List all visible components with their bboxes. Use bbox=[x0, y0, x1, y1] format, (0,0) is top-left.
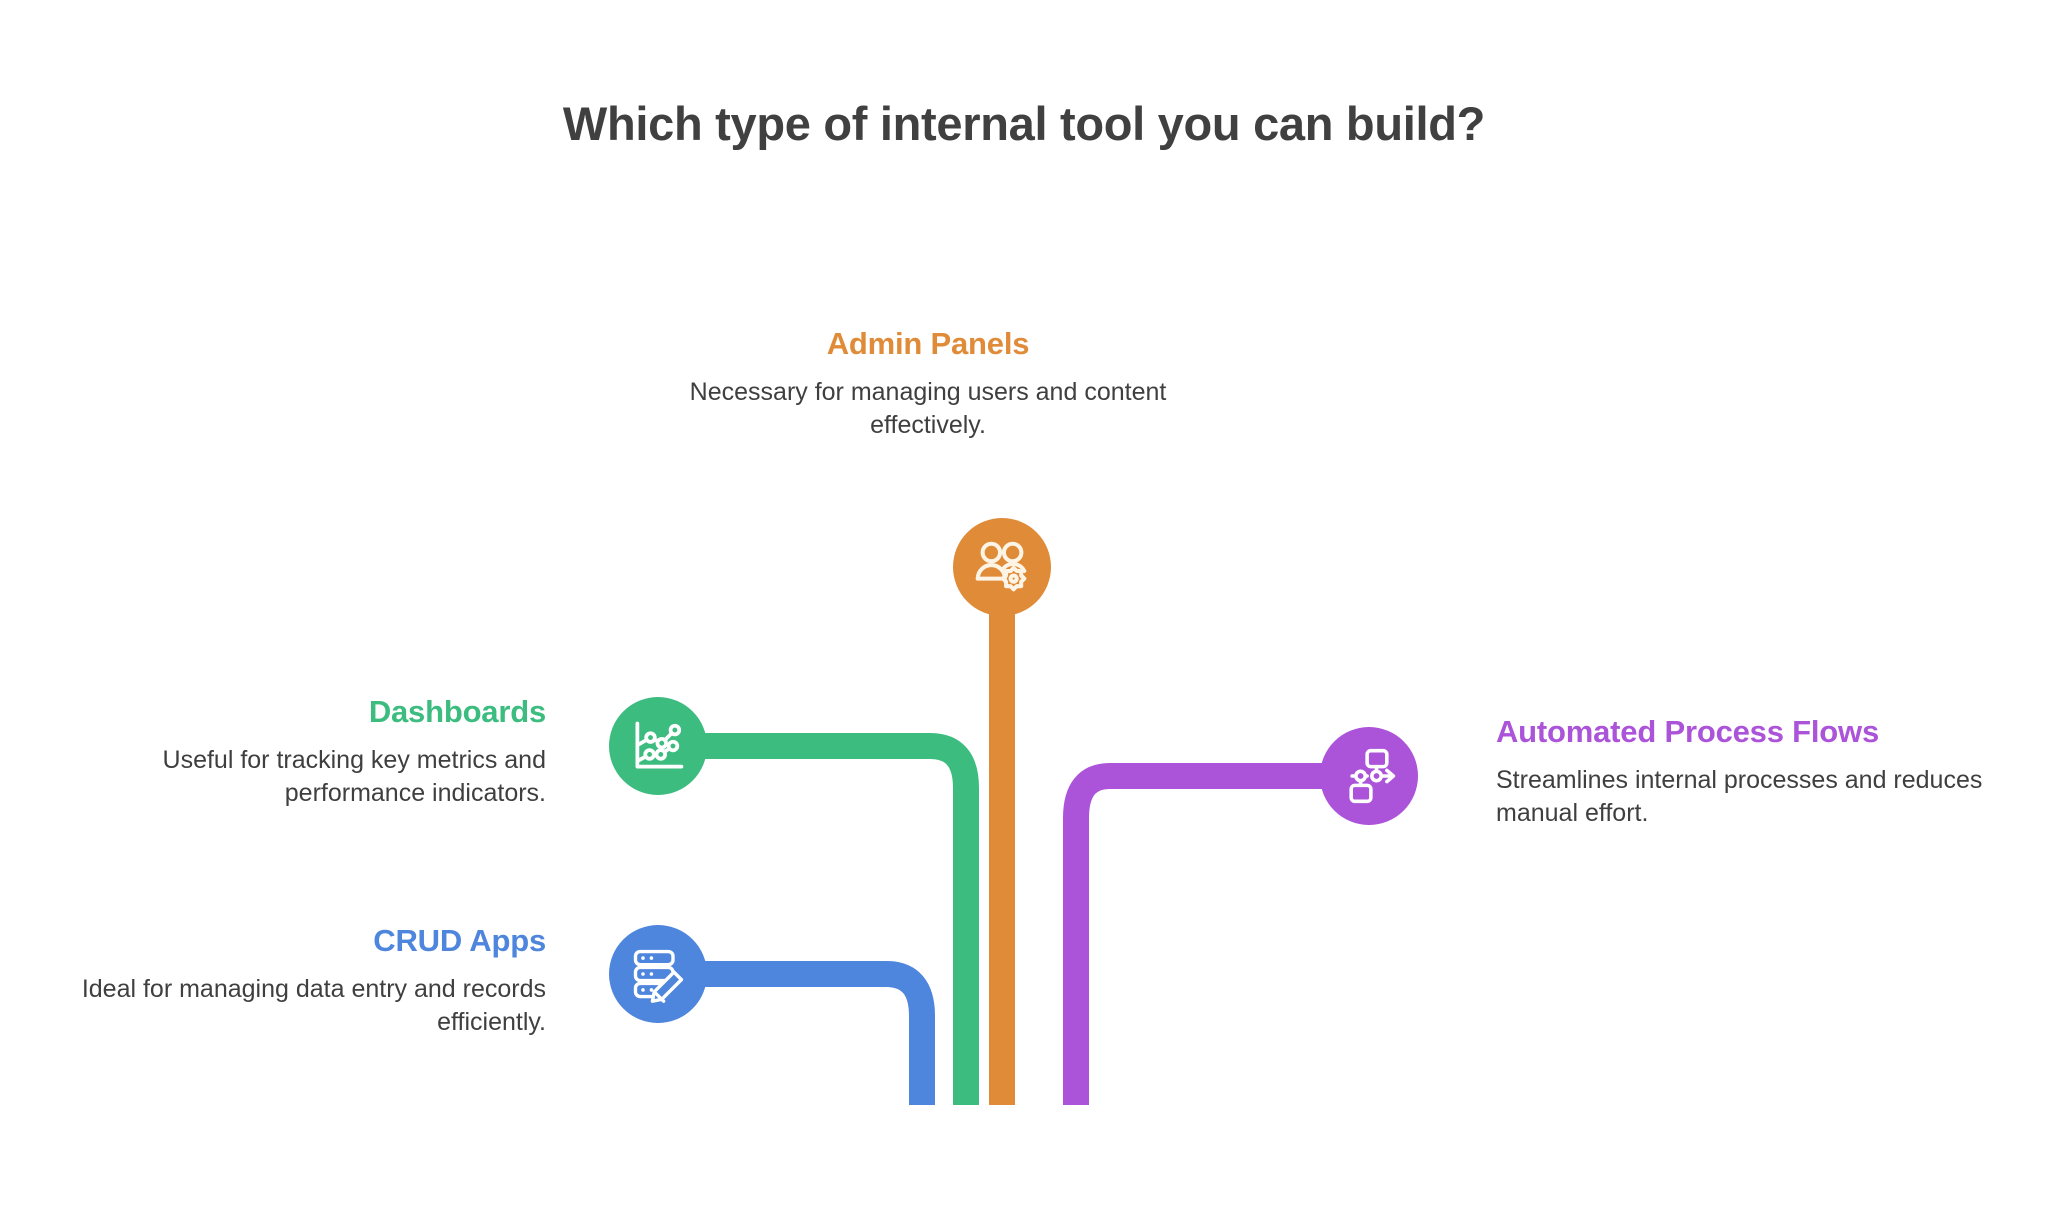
node-automated-process-flows[interactable] bbox=[1320, 727, 1418, 825]
node-crud-apps[interactable] bbox=[609, 925, 707, 1023]
users-gear-icon bbox=[971, 536, 1033, 598]
branch-description-admin: Necessary for managing users and content… bbox=[674, 376, 1182, 443]
branch-title-dashboards: Dashboards bbox=[30, 693, 546, 732]
branch-description-dashboards: Useful for tracking key metrics and perf… bbox=[30, 744, 546, 811]
branch-text-dashboards: Dashboards Useful for tracking key metri… bbox=[30, 693, 546, 810]
branch-description-crud: Ideal for managing data entry and record… bbox=[30, 973, 546, 1040]
line-chart-icon bbox=[628, 716, 688, 776]
database-pencil-icon bbox=[628, 944, 688, 1004]
branch-text-flows: Automated Process Flows Streamlines inte… bbox=[1496, 713, 2026, 830]
branch-description-flows: Streamlines internal processes and reduc… bbox=[1496, 764, 2026, 831]
connector-crud bbox=[700, 974, 922, 1105]
branch-title-crud: CRUD Apps bbox=[30, 922, 546, 961]
connector-flows bbox=[1076, 776, 1330, 1105]
branch-text-admin: Admin Panels Necessary for managing user… bbox=[674, 325, 1182, 442]
infographic-canvas: Which type of internal tool you can buil… bbox=[0, 0, 2048, 1210]
branch-title-flows: Automated Process Flows bbox=[1496, 713, 2026, 752]
page-title: Which type of internal tool you can buil… bbox=[0, 96, 2048, 152]
branch-title-admin: Admin Panels bbox=[674, 325, 1182, 364]
node-dashboards[interactable] bbox=[609, 697, 707, 795]
node-admin-panels[interactable] bbox=[953, 518, 1051, 616]
connector-dashboards bbox=[700, 746, 966, 1105]
flowchart-arrow-icon bbox=[1339, 746, 1399, 806]
branch-text-crud: CRUD Apps Ideal for managing data entry … bbox=[30, 922, 546, 1039]
